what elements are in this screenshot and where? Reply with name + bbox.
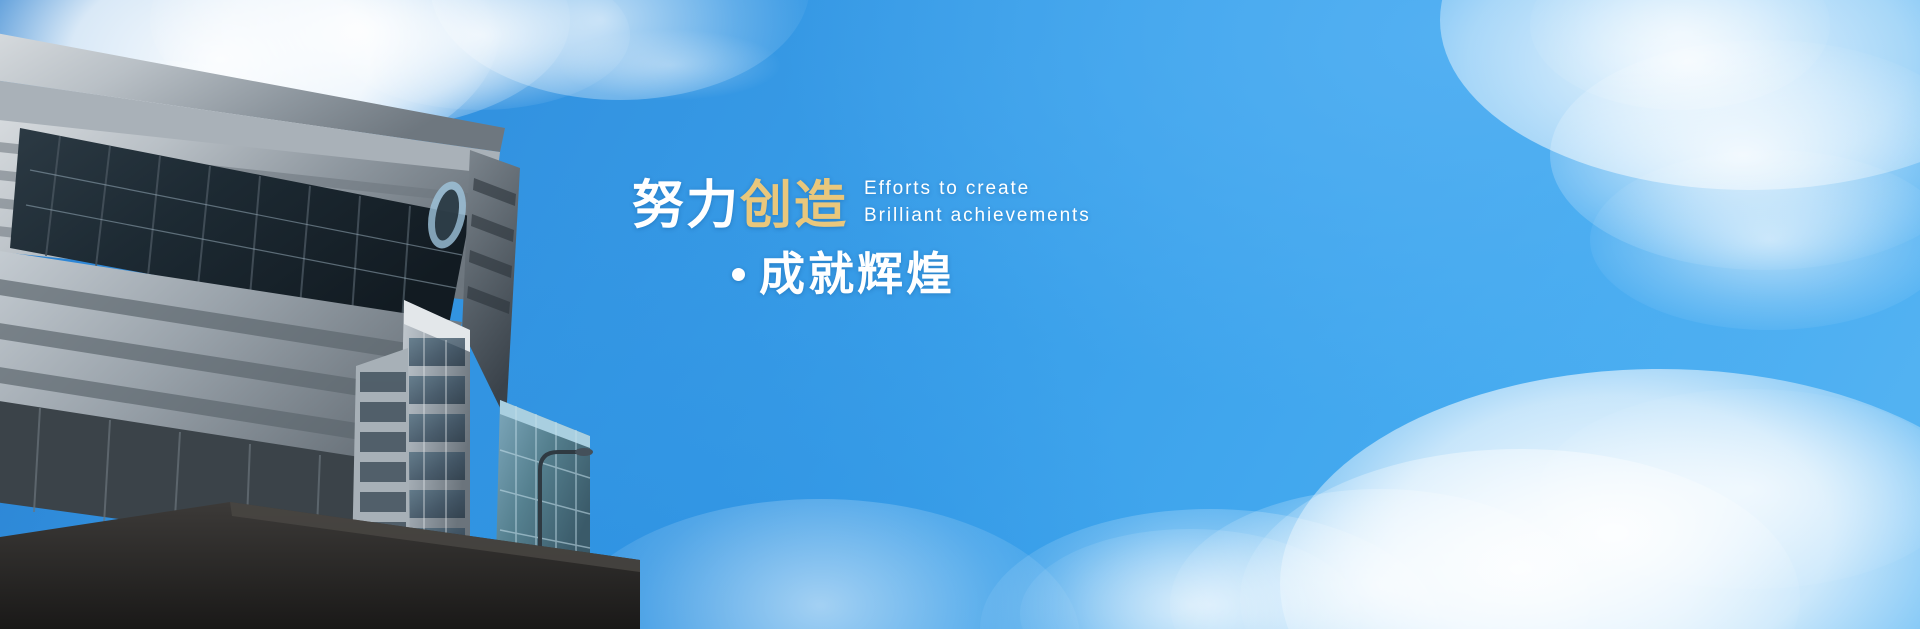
banner-copy: 努力创造 Efforts to create Brilliant achieve… — [632, 176, 1152, 298]
english-line-1: Efforts to create — [864, 176, 1091, 203]
headline-chinese-gold: 创造 — [740, 177, 848, 235]
subline-chinese: 成就辉煌 — [759, 250, 955, 298]
headline-english: Efforts to create Brilliant achievements — [864, 176, 1091, 234]
bullet-dot-icon — [732, 268, 745, 281]
subline-row: 成就辉煌 — [632, 250, 1152, 298]
headline-chinese-white: 努力 — [632, 177, 740, 235]
headline-row: 努力创造 Efforts to create Brilliant achieve… — [632, 176, 1152, 234]
english-line-2: Brilliant achievements — [864, 203, 1091, 230]
hero-banner: 努力创造 Efforts to create Brilliant achieve… — [0, 0, 1920, 629]
headline-chinese: 努力创造 — [632, 179, 848, 234]
skyscraper-photo — [0, 0, 640, 629]
